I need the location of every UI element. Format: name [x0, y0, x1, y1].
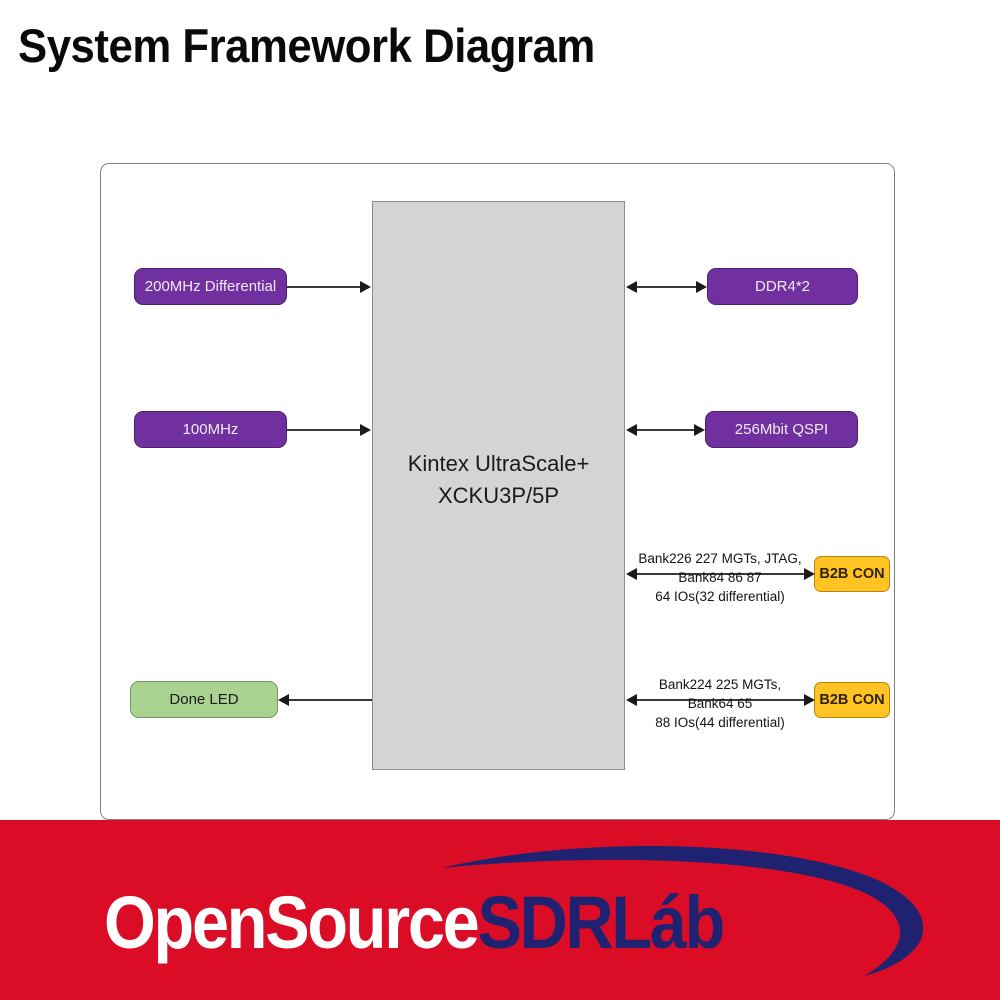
node-done-led[interactable]: Done LED: [130, 681, 278, 718]
fpga-block-label: Kintex UltraScale+ XCKU3P/5P: [372, 448, 625, 512]
node-256mbit-qspi[interactable]: 256Mbit QSPI: [705, 411, 858, 448]
connector-fpga-to-qspi: [636, 429, 696, 431]
arrow-left-icon: [626, 424, 637, 436]
bank-annotation-lower: Bank224 225 MGTs, Bank64 65 88 IOs(44 di…: [620, 675, 820, 732]
node-b2b-con-lower[interactable]: B2B CON: [814, 682, 890, 718]
node-200mhz-differential[interactable]: 200MHz Differential: [134, 268, 287, 305]
connector-fpga-to-ddr4: [636, 286, 698, 288]
arrow-left-icon: [278, 694, 289, 706]
logo-opensource-text: OpenSource: [104, 881, 478, 964]
arrow-right-icon: [360, 424, 371, 436]
arrow-right-icon: [694, 424, 705, 436]
arrow-left-icon: [626, 281, 637, 293]
connector-fpga-to-done-led: [288, 699, 372, 701]
bank-annotation-upper: Bank226 227 MGTs, JTAG, Bank84 86 87 64 …: [620, 549, 820, 606]
connector-100mhz-to-fpga: [287, 429, 362, 431]
arrow-right-icon: [696, 281, 707, 293]
connector-200mhz-to-fpga: [287, 286, 362, 288]
arrow-right-icon: [360, 281, 371, 293]
node-ddr4[interactable]: DDR4*2: [707, 268, 858, 305]
opensource-sdrlab-logo: OpenSourceSDRLáb: [104, 842, 944, 982]
logo-text: OpenSourceSDRLáb: [104, 886, 723, 960]
footer-banner: OpenSourceSDRLáb: [0, 820, 1000, 1000]
node-100mhz[interactable]: 100MHz: [134, 411, 287, 448]
node-b2b-con-upper[interactable]: B2B CON: [814, 556, 890, 592]
page-title: System Framework Diagram: [18, 18, 595, 73]
logo-sdrlab-text: SDRLáb: [478, 881, 724, 964]
